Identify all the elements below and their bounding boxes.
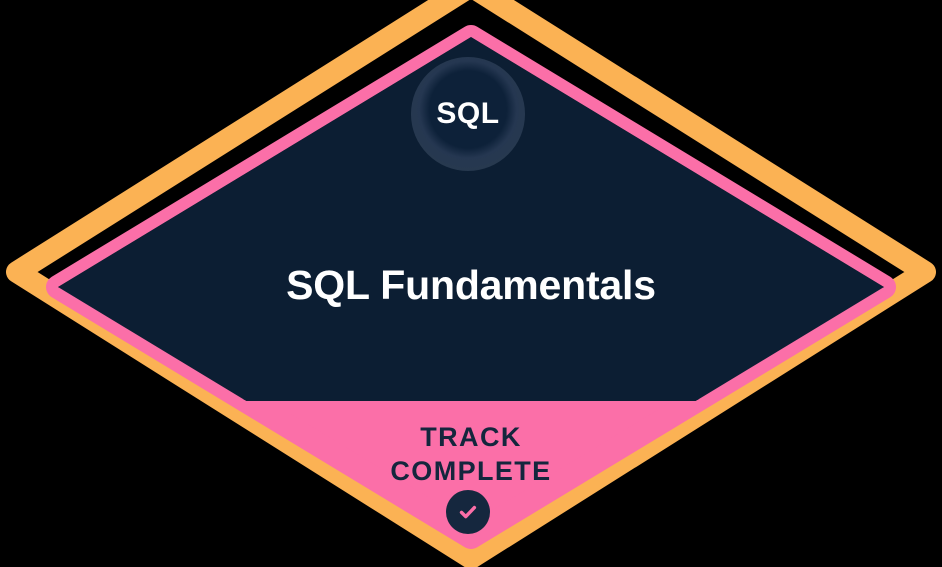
navy-upper-panel [58, 37, 884, 400]
completion-badge: SQL SQL Fundamentals TRACK COMPLETE [0, 0, 942, 567]
badge-diamond-graphic [0, 0, 942, 567]
